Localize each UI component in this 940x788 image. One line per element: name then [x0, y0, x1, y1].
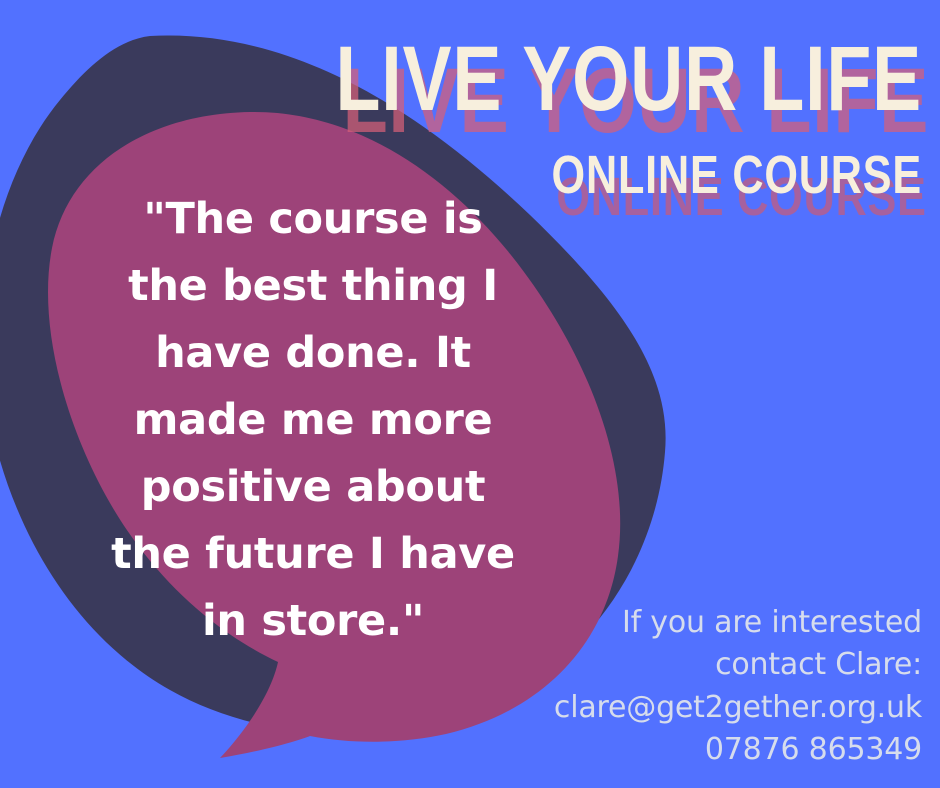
- quote-line: the best thing I: [68, 253, 558, 320]
- page-title: LIVE YOUR LIFE: [184, 34, 922, 124]
- quote-line: have done. It: [68, 320, 558, 387]
- quote-line: the future I have: [68, 521, 558, 588]
- testimonial-quote: "The course is the best thing I have don…: [68, 186, 558, 656]
- quote-line: in store.": [68, 588, 558, 655]
- quote-line: "The course is: [68, 186, 558, 253]
- quote-line: made me more: [68, 387, 558, 454]
- contact-block: If you are interested contact Clare: cla…: [492, 602, 922, 772]
- contact-email[interactable]: clare@get2gether.org.uk: [492, 687, 922, 730]
- poster-canvas: LIVE YOUR LIFE ONLINE COURSE "The course…: [0, 0, 940, 788]
- contact-intro: If you are interested: [492, 602, 922, 645]
- quote-line: positive about: [68, 454, 558, 521]
- headline-block: LIVE YOUR LIFE ONLINE COURSE: [0, 34, 940, 202]
- contact-person: contact Clare:: [492, 644, 922, 687]
- contact-phone[interactable]: 07876 865349: [492, 729, 922, 772]
